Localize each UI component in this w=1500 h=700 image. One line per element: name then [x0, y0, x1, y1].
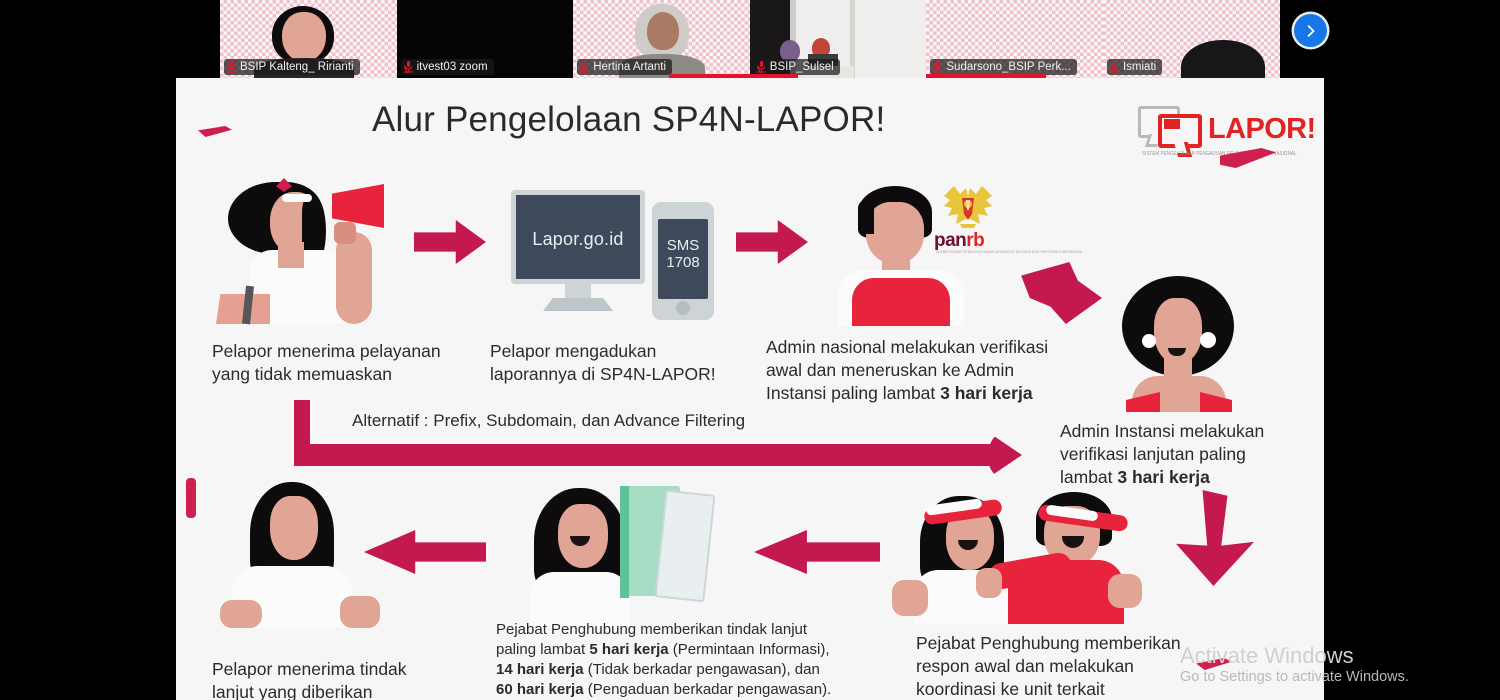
flow-arrow-1 [414, 220, 486, 264]
next-participants-button[interactable] [1294, 14, 1327, 47]
arm-right [340, 596, 380, 628]
arm [336, 232, 372, 324]
participant-name: Hertina Artanti [593, 61, 666, 73]
decoration-confetti [198, 126, 232, 137]
flow-arrow-4 [1176, 490, 1254, 586]
panrb-wordmark: panrb [934, 230, 984, 252]
participant-tile[interactable]: itvest03 zoom [397, 0, 574, 78]
panrb-logo: panrb KEMENTERIAN PENDAYAGUNAAN APARATUR… [928, 180, 1008, 258]
monitor-screen: Lapor.go.id [511, 190, 645, 284]
step-3-caption: Admin nasional melakukan verifikasi awal… [766, 336, 1066, 405]
watermark-title: Activate Windows [1180, 642, 1409, 669]
monitor-stand-base [543, 298, 613, 311]
hand-far-left [892, 580, 928, 616]
slide-title: Alur Pengelolaan SP4N-LAPOR! [372, 100, 1032, 140]
neck [278, 242, 304, 268]
step-7-caption: Pelapor menerima tindak lanjut yang dibe… [212, 658, 472, 700]
participant-face [282, 12, 326, 62]
panrb-tagline: KEMENTERIAN PENDAYAGUNAAN APARATUR NEGAR… [936, 250, 1082, 254]
illustration-two-colleagues [892, 474, 1142, 624]
earring-left [1142, 334, 1156, 348]
participant-filmstrip: BSIP Kalteng_ Ririanti itvest03 zoom [220, 0, 1280, 78]
participant-name: Sudarsono_BSIP Perk... [946, 61, 1070, 73]
participant-name-badge: itvest03 zoom [401, 59, 494, 75]
microphone-muted-icon [227, 60, 236, 73]
microphone-muted-icon [933, 60, 942, 73]
shared-screen-slide[interactable]: Alur Pengelolaan SP4N-LAPOR! LAPOR! SIST… [176, 78, 1324, 700]
book-spine [620, 486, 629, 598]
illustration-woman-with-megaphone [216, 174, 416, 324]
illustration-phone: SMS 1708 [652, 202, 714, 320]
microphone-muted-icon [757, 60, 766, 73]
decoration-confetti [186, 478, 196, 518]
zoom-screenshare-window: BSIP Kalteng_ Ririanti itvest03 zoom [0, 0, 1500, 700]
illustration-woman-with-book [524, 478, 742, 628]
participant-name-badge: Sudarsono_BSIP Perk... [930, 59, 1076, 75]
headband [282, 194, 312, 202]
step-5-caption: Pejabat Penghubung memberikan respon awa… [916, 632, 1206, 700]
chevron-right-icon [1304, 24, 1318, 38]
phone-home-button [676, 301, 690, 315]
flow-arrow-alternatif [294, 400, 1034, 476]
garuda-emblem-icon [938, 180, 998, 232]
illustration-monitor: Lapor.go.id [511, 190, 645, 316]
participant-tile[interactable]: Hertina Artanti [573, 0, 750, 78]
participant-tile[interactable]: Sudarsono_BSIP Perk... [926, 0, 1103, 78]
monitor-label: Lapor.go.id [516, 229, 640, 250]
activate-windows-watermark: Activate Windows Go to Settings to activ… [1180, 642, 1409, 685]
participant-name: BSIP Kalteng_ Ririanti [240, 61, 354, 73]
hand-far-right [1108, 574, 1142, 608]
lapor-logo: LAPOR! SISTEM PENGELOLAAN PENGADUAN PELA… [1124, 92, 1304, 166]
participant-name: Ismiati [1123, 61, 1156, 73]
participant-tile[interactable]: Ismiati [1103, 0, 1280, 78]
participant-name: itvest03 zoom [417, 61, 488, 73]
phone-label: SMS 1708 [658, 237, 708, 271]
hand-left [976, 568, 1002, 598]
step-6-caption: Pejabat Penghubung memberikan tindak lan… [496, 620, 876, 700]
phone-screen: SMS 1708 [658, 219, 708, 299]
microphone-muted-icon [1110, 60, 1119, 73]
flow-arrow-2 [736, 220, 808, 264]
participant-name: BSIP_Sulsel [770, 61, 834, 73]
sideburn [858, 200, 874, 234]
lapor-wordmark: LAPOR! [1208, 113, 1316, 146]
arm-left [220, 600, 262, 628]
face [866, 202, 924, 264]
microphone-muted-icon [404, 60, 413, 73]
hand [334, 222, 356, 244]
participant-name-badge: BSIP Kalteng_ Ririanti [224, 59, 360, 75]
shirt [852, 278, 950, 326]
participant-name-badge: BSIP_Sulsel [754, 59, 840, 75]
participant-face [647, 12, 679, 50]
illustration-woman-receiving [212, 474, 388, 628]
flow-arrow-3 [1016, 262, 1102, 324]
step-2-caption: Pelapor mengadukan laporannya di SP4N-LA… [490, 340, 760, 386]
microphone-muted-icon [580, 60, 589, 73]
participant-tile[interactable]: BSIP_Sulsel [750, 0, 927, 78]
participant-name-badge: Ismiati [1107, 59, 1162, 75]
face [270, 496, 318, 560]
participant-name-badge: Hertina Artanti [577, 59, 672, 75]
flow-arrow-5 [754, 530, 880, 574]
monitor-stand-neck [565, 284, 591, 300]
speech-bubble-accent [1164, 119, 1180, 129]
illustration-woman-afro [1116, 276, 1240, 412]
watermark-subtitle: Go to Settings to activate Windows. [1180, 669, 1409, 685]
book-white [654, 490, 715, 603]
earring-right [1200, 332, 1216, 348]
participant-tile[interactable]: BSIP Kalteng_ Ririanti [220, 0, 397, 78]
step-1-caption: Pelapor menerima pelayanan yang tidak me… [212, 340, 482, 386]
